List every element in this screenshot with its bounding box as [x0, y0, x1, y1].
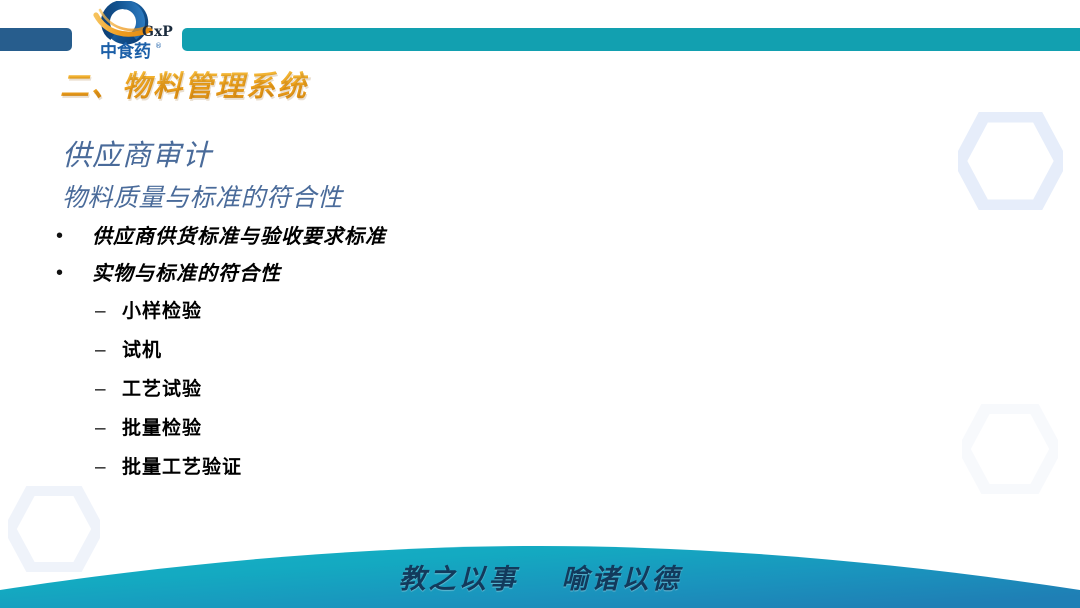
- sub-bullet-text: 批量工艺验证: [122, 454, 242, 481]
- list-item: – 工艺试验: [95, 376, 695, 415]
- list-item: • 实物与标准的符合性: [50, 259, 750, 296]
- logo-chinese-text: 中食药: [100, 41, 151, 62]
- list-item: • 供应商供货标准与验收要求标准: [50, 222, 750, 259]
- section-heading-secondary: 物料质量与标准的符合性: [62, 178, 343, 214]
- slide-canvas: GxP 中食药 ® 二、物料管理系统 供应商审计 物料质量与标准的符合性 • 供…: [0, 0, 1080, 608]
- footer-motto-left: 教之以事: [399, 564, 519, 595]
- slide-title: 二、物料管理系统: [60, 63, 308, 105]
- dash-marker-icon: –: [95, 415, 122, 442]
- bullet-list: • 供应商供货标准与验收要求标准 • 实物与标准的符合性: [50, 222, 750, 296]
- sub-bullet-text: 试机: [122, 337, 162, 364]
- hexagon-top-right: [958, 112, 1063, 210]
- hexagon-mid-right: [962, 404, 1058, 494]
- sub-bullet-text: 工艺试验: [122, 376, 202, 403]
- list-item: – 批量检验: [95, 415, 695, 454]
- bullet-text: 实物与标准的符合性: [92, 259, 281, 287]
- dash-marker-icon: –: [95, 298, 122, 325]
- footer-motto: 教之以事 喻诸以德: [0, 557, 1080, 596]
- bullet-marker-icon: •: [50, 259, 92, 287]
- list-item: – 批量工艺验证: [95, 454, 695, 493]
- dash-marker-icon: –: [95, 454, 122, 481]
- sub-bullet-list: – 小样检验 – 试机 – 工艺试验 – 批量检验 – 批量工艺验证: [95, 298, 695, 493]
- logo-latin-text: GxP: [142, 24, 173, 40]
- sub-bullet-text: 小样检验: [122, 298, 202, 325]
- bullet-marker-icon: •: [50, 222, 92, 250]
- bullet-text: 供应商供货标准与验收要求标准: [92, 222, 386, 250]
- dash-marker-icon: –: [95, 337, 122, 364]
- list-item: – 小样检验: [95, 298, 695, 337]
- zhongshiyao-gxp-logo: GxP 中食药 ®: [92, 1, 184, 65]
- list-item: – 试机: [95, 337, 695, 376]
- sub-bullet-text: 批量检验: [122, 415, 202, 442]
- dash-marker-icon: –: [95, 376, 122, 403]
- header-accent-bar-right: [182, 28, 1080, 51]
- header-accent-bar-left: [0, 28, 72, 51]
- footer-motto-right: 喻诸以德: [561, 564, 681, 595]
- logo-registered-mark: ®: [155, 42, 162, 50]
- section-heading-primary: 供应商审计: [62, 132, 212, 174]
